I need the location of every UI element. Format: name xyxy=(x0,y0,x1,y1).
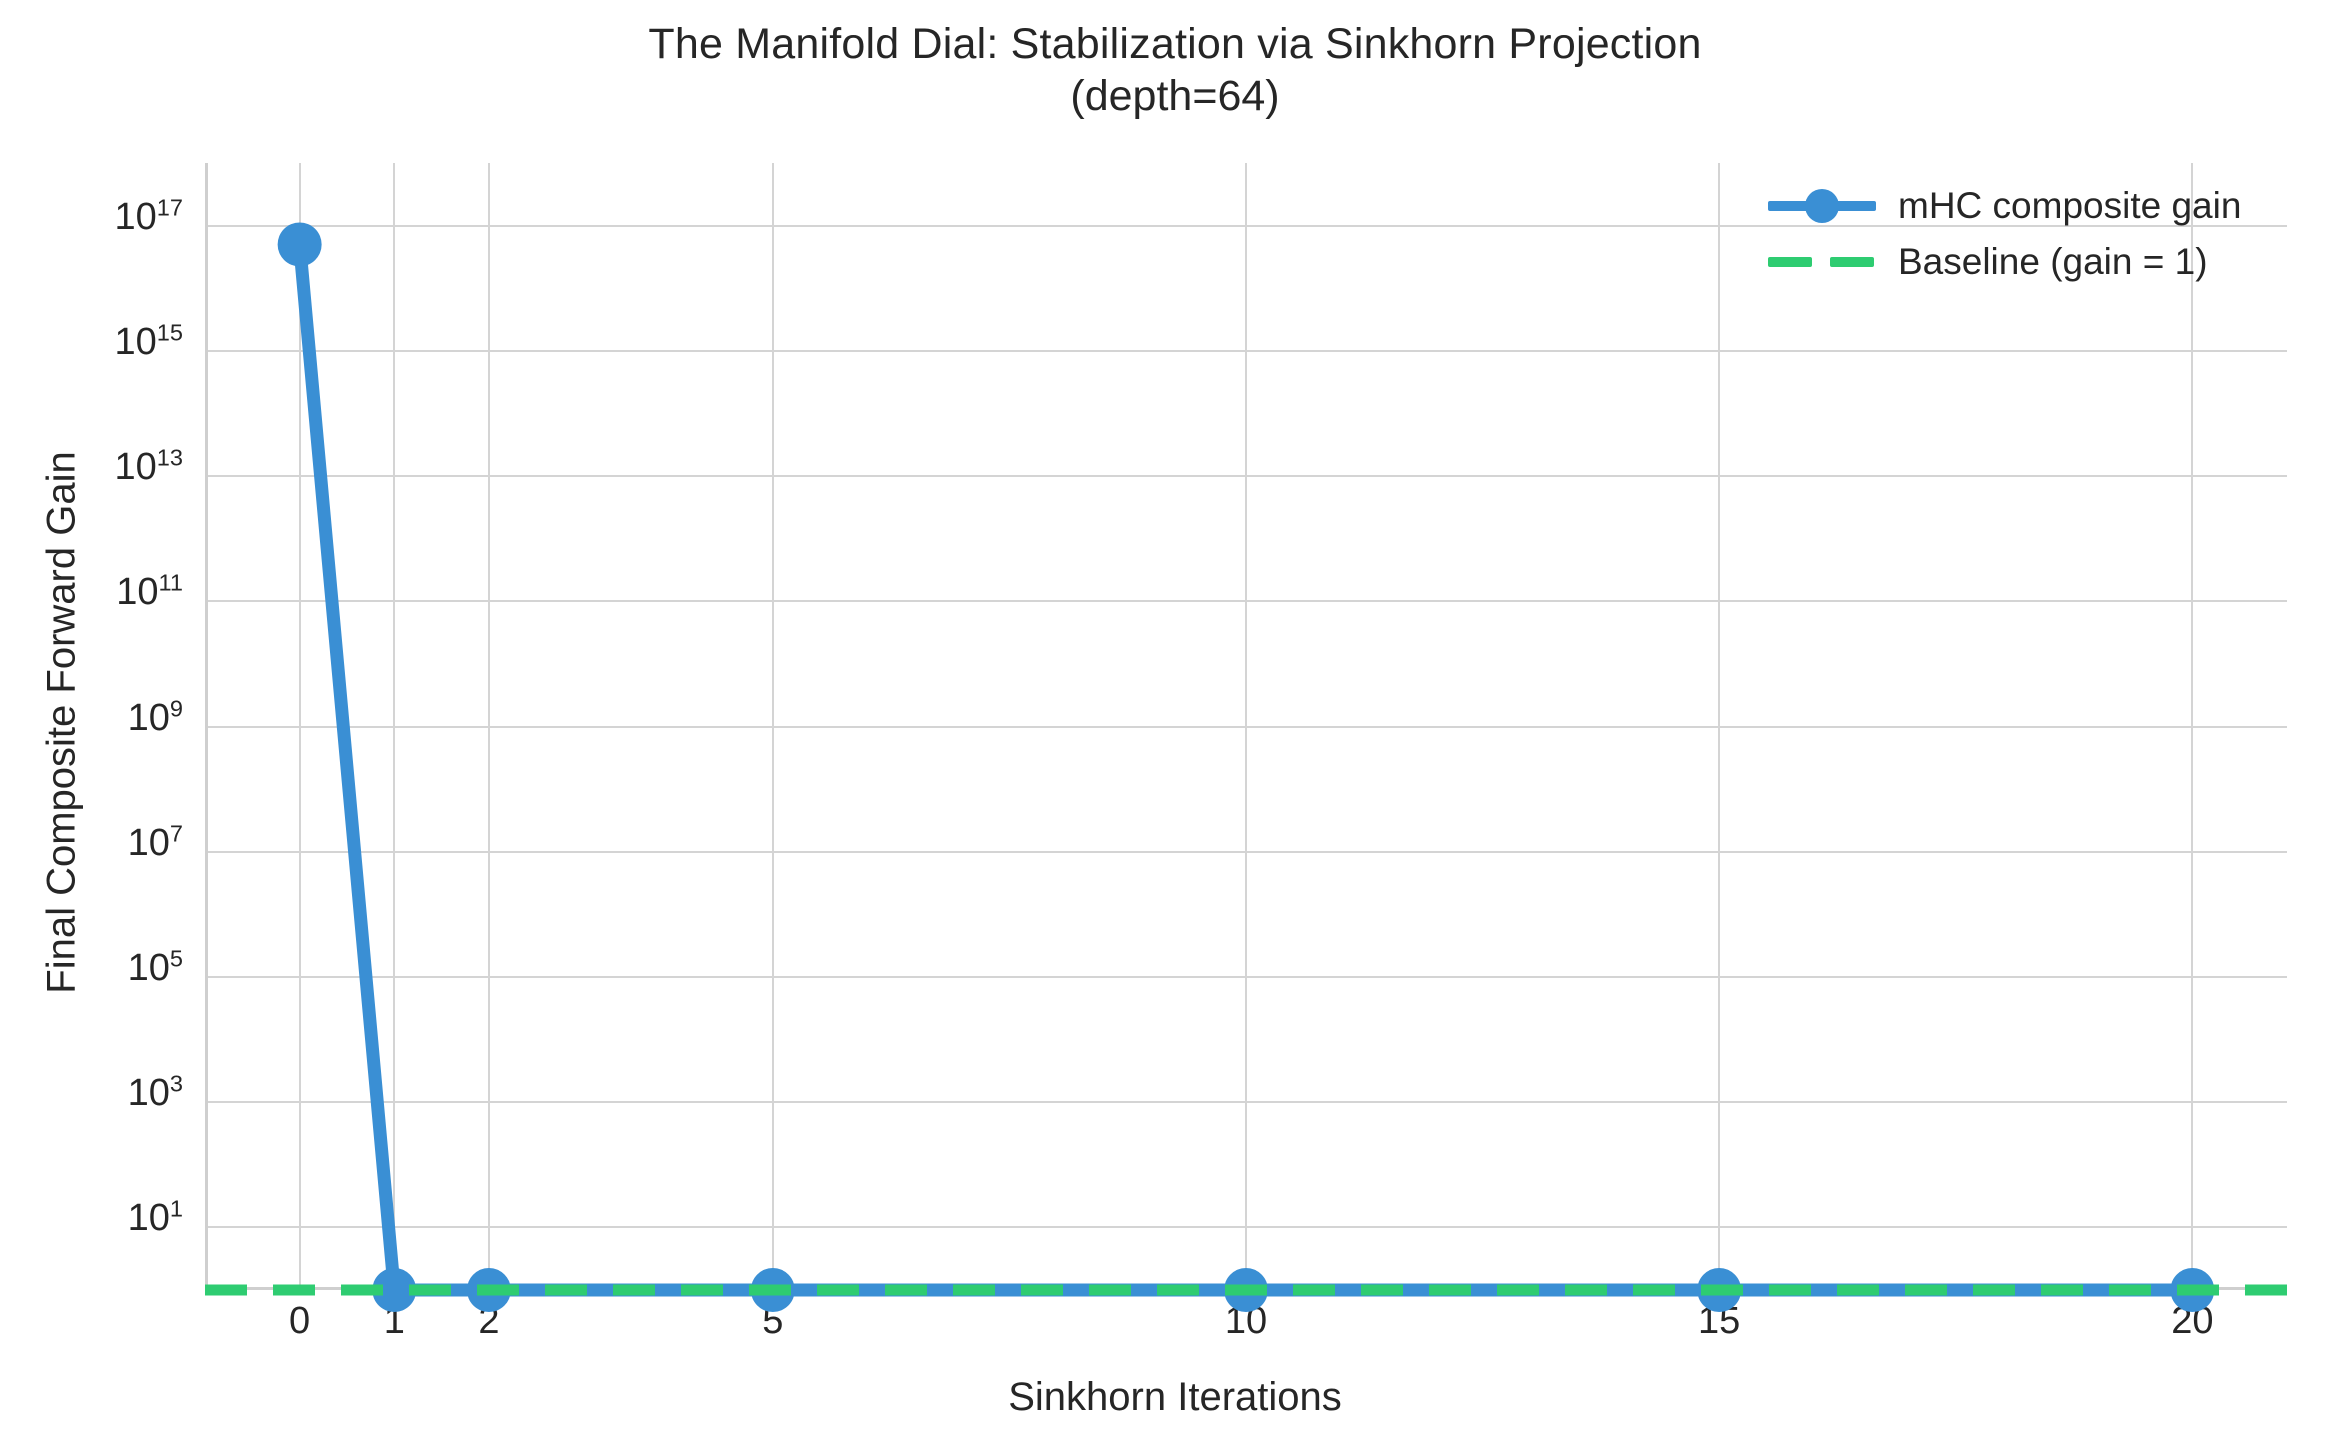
legend-item-baseline[interactable]: Baseline (gain = 1) xyxy=(1768,234,2308,290)
y-tick-label: 103 xyxy=(0,1072,183,1115)
legend-item-mhc-composite-gain[interactable]: mHC composite gain xyxy=(1768,178,2308,234)
y-tick-label: 1017 xyxy=(0,196,183,239)
legend-swatch-dashed-line xyxy=(1768,242,1876,282)
series-layer xyxy=(205,163,2287,1290)
series-line-mhc-composite-gain xyxy=(300,244,2193,1290)
y-tick-label: 107 xyxy=(0,822,183,865)
y-tick-label: 105 xyxy=(0,947,183,990)
x-axis-label: Sinkhorn Iterations xyxy=(0,1375,2350,1420)
legend-label-mhc-composite-gain: mHC composite gain xyxy=(1898,185,2241,227)
y-tick-label: 101 xyxy=(0,1197,183,1240)
data-point-marker[interactable] xyxy=(278,222,322,266)
y-axis-label: Final Composite Forward Gain xyxy=(40,353,85,1093)
legend-label-baseline: Baseline (gain = 1) xyxy=(1898,241,2208,283)
plot-area xyxy=(205,163,2287,1290)
chart-legend: mHC composite gain Baseline (gain = 1) xyxy=(1768,178,2308,290)
y-tick-label: 109 xyxy=(0,697,183,740)
chart-title-block: The Manifold Dial: Stabilization via Sin… xyxy=(0,18,2350,122)
x-tick-label: 0 xyxy=(289,1300,310,1343)
chart-title: The Manifold Dial: Stabilization via Sin… xyxy=(0,18,2350,70)
y-tick-label: 1013 xyxy=(0,446,183,489)
y-tick-label: 1015 xyxy=(0,321,183,364)
y-tick-label: 1011 xyxy=(0,571,183,614)
legend-swatch-line-marker xyxy=(1768,186,1876,226)
chart-figure: The Manifold Dial: Stabilization via Sin… xyxy=(0,0,2350,1452)
chart-subtitle: (depth=64) xyxy=(0,70,2350,122)
